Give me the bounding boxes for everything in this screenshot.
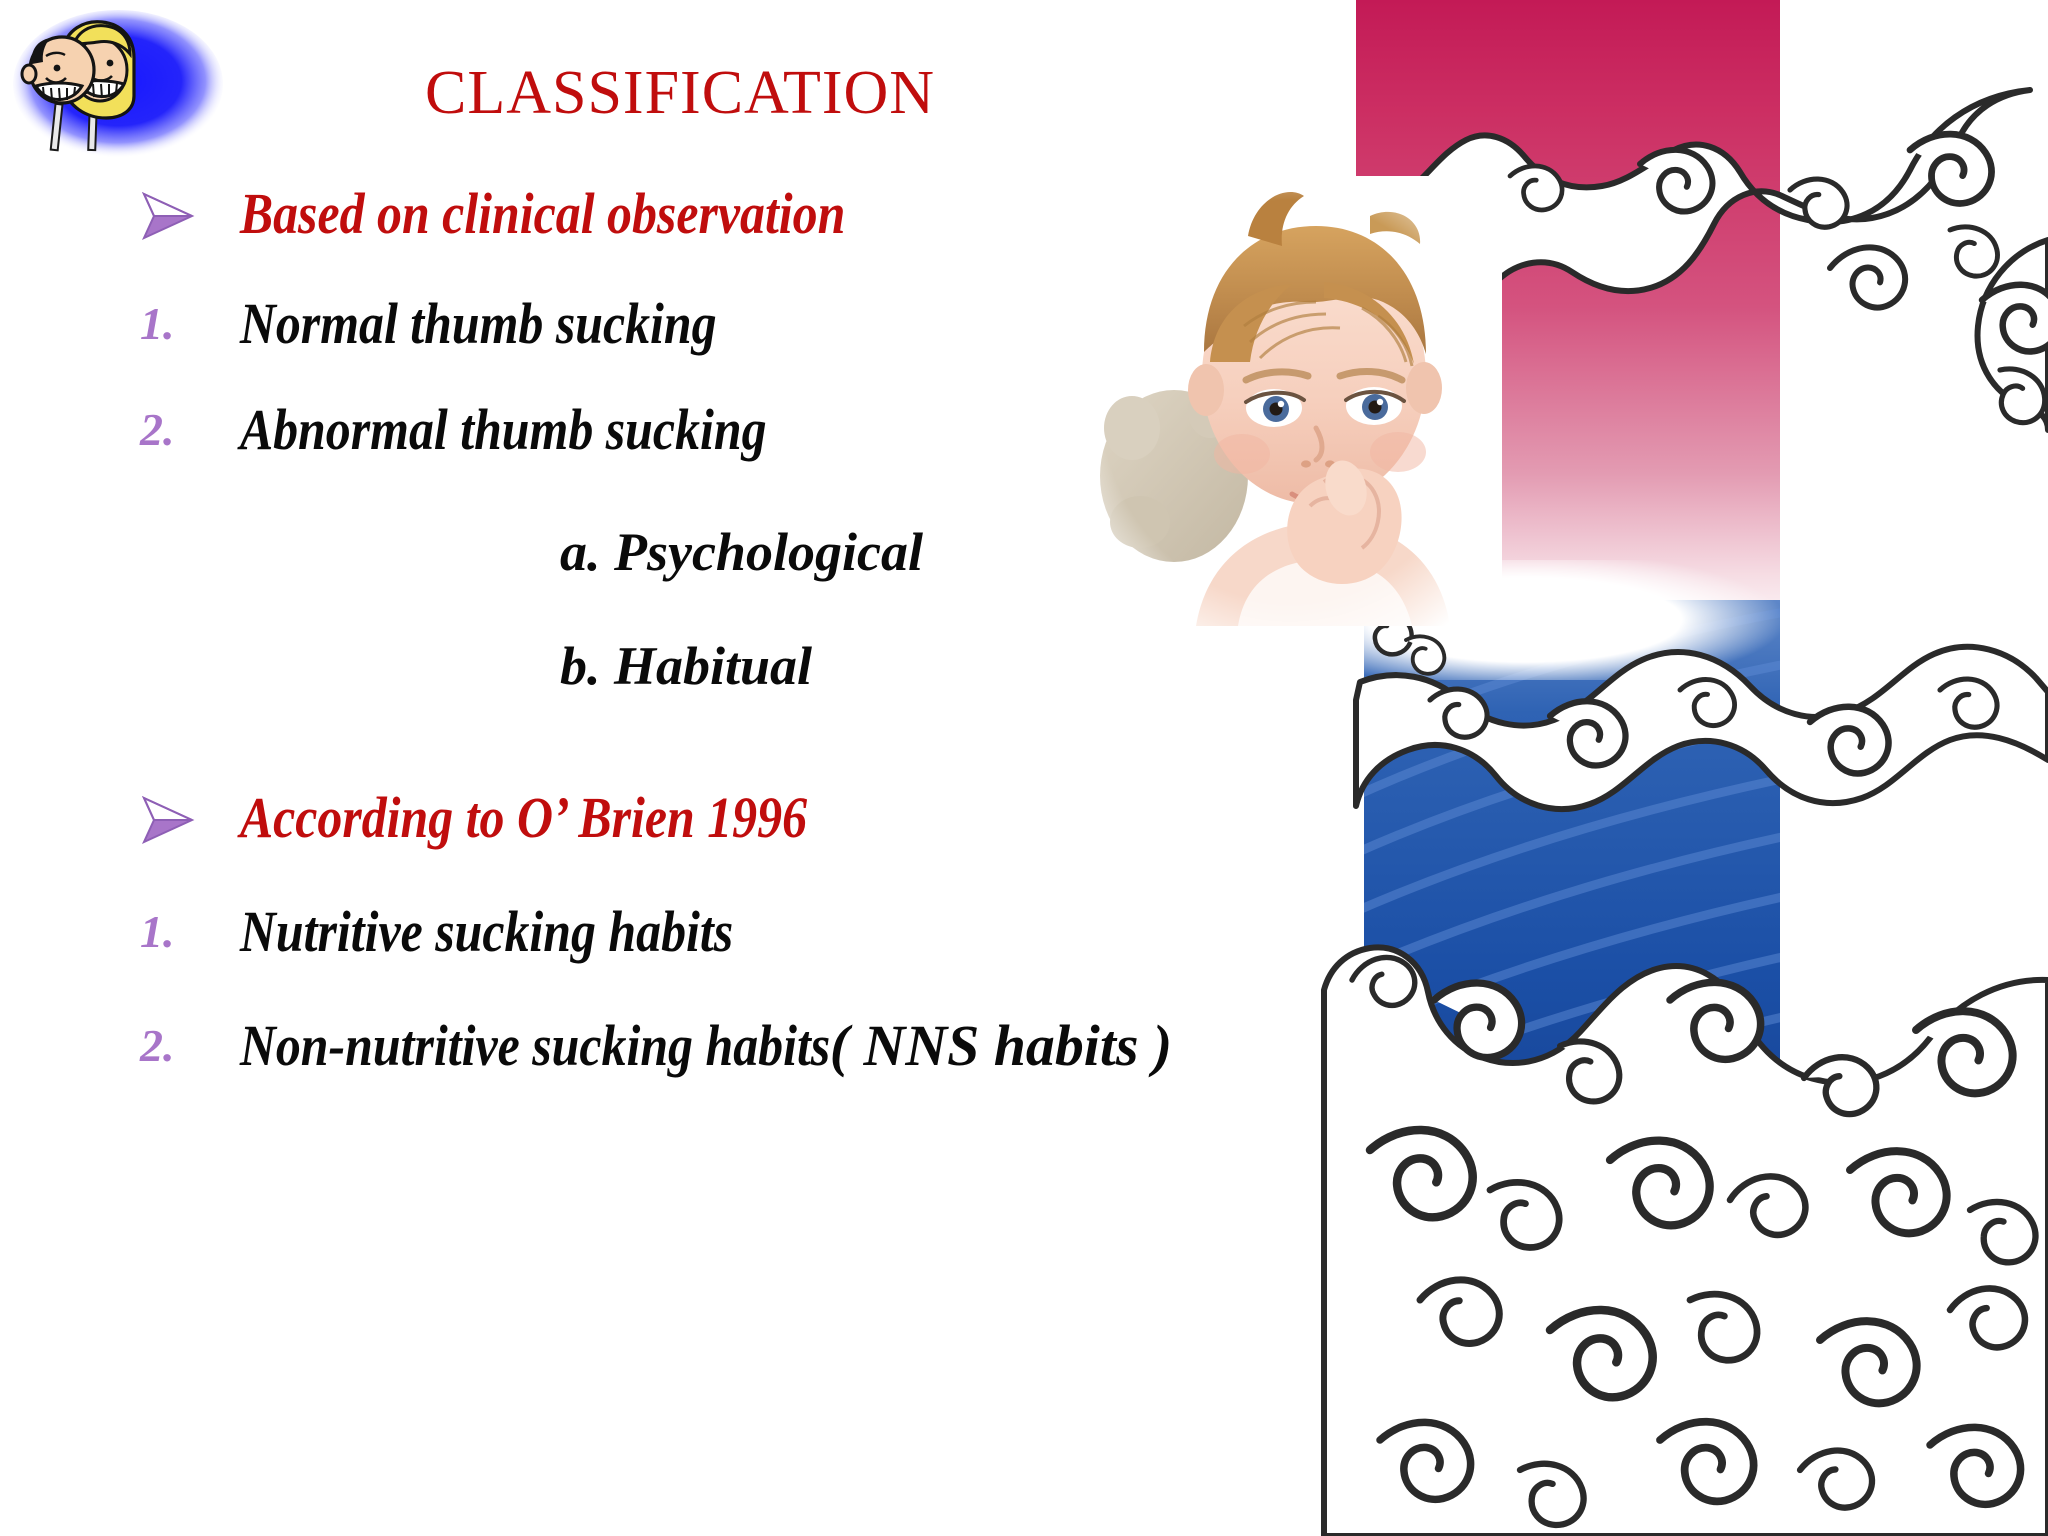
list-number: 2. bbox=[140, 1017, 202, 1069]
sub-item-text: b. Habitual bbox=[560, 639, 812, 693]
list-item-text: Abnormal thumb sucking bbox=[202, 401, 767, 459]
section-2-heading: According to O’ Brien 1996 bbox=[202, 789, 807, 847]
list-item-text-composite: Non-nutritive sucking habits ( NNS habit… bbox=[202, 1017, 1125, 1075]
list-item-text-main: Non-nutritive sucking habits bbox=[240, 1013, 830, 1078]
list-number: 1. bbox=[140, 295, 202, 347]
section-1-heading: Based on clinical observation bbox=[202, 185, 845, 243]
slide-title: CLASSIFICATION bbox=[300, 58, 1060, 129]
slide-content: Based on clinical observation 1. Normal … bbox=[0, 185, 1340, 1075]
sub-item-text: a. Psychological bbox=[560, 525, 923, 579]
arrow-bullet-icon bbox=[140, 789, 202, 845]
section-heading-row: Based on clinical observation bbox=[0, 185, 1340, 243]
sub-list-item: a. Psychological bbox=[0, 525, 1340, 579]
list-number: 1. bbox=[140, 903, 202, 955]
list-item-text-paren: ( NNS habits ) bbox=[830, 1017, 1172, 1075]
list-item: 2. Non-nutritive sucking habits ( NNS ha… bbox=[0, 1017, 1340, 1075]
list-number: 2. bbox=[140, 401, 202, 453]
two-smiling-faces-logo bbox=[10, 8, 230, 178]
list-item-text: Normal thumb sucking bbox=[202, 295, 717, 353]
wave-crest-mid bbox=[1356, 647, 2048, 809]
list-item: 1. Normal thumb sucking bbox=[0, 295, 1340, 353]
arrow-bullet-icon bbox=[140, 185, 202, 241]
list-item: 2. Abnormal thumb sucking bbox=[0, 401, 1340, 459]
list-item-text: Nutritive sucking habits bbox=[202, 903, 733, 961]
section-heading-row: According to O’ Brien 1996 bbox=[0, 789, 1340, 847]
list-item: 1. Nutritive sucking habits bbox=[0, 903, 1340, 961]
sub-list-item: b. Habitual bbox=[0, 639, 1340, 693]
slide-canvas: CLASSIFICATION Based on clinical observa… bbox=[0, 0, 2048, 1536]
